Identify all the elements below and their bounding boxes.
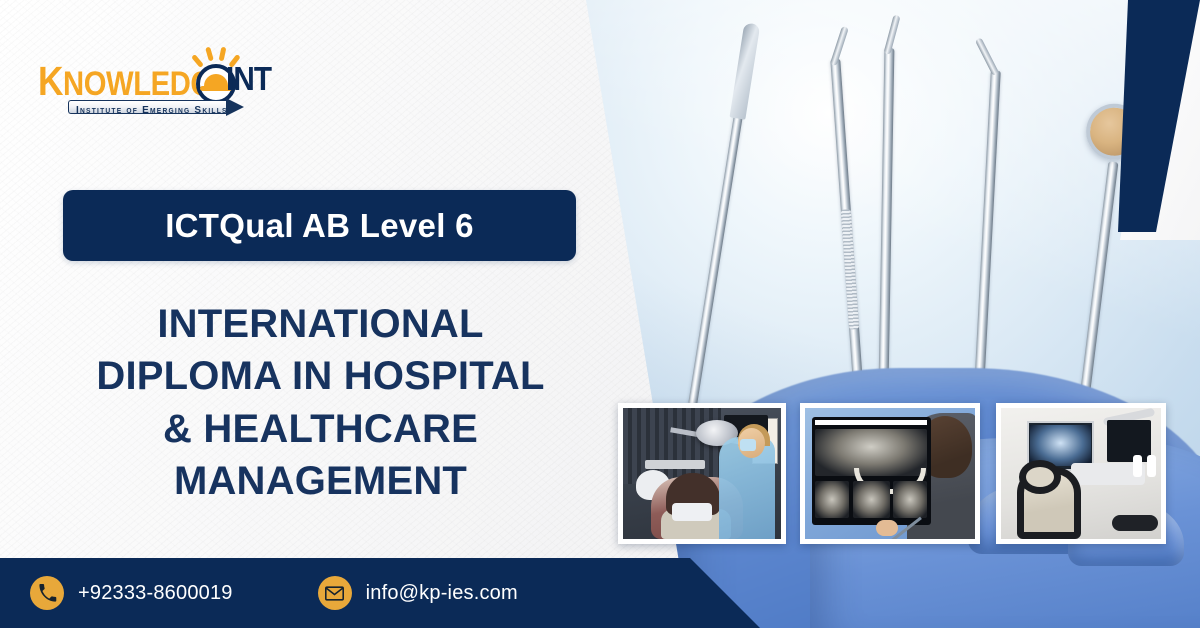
- bulb-ray-1: [191, 54, 204, 68]
- logo-wordmark-suffix: INT: [226, 60, 271, 98]
- thumbnail-dental-operatory[interactable]: [996, 403, 1166, 544]
- page-title-line-2: DIPLOMA IN HOSPITAL: [63, 350, 578, 402]
- bulb-ray-2: [205, 47, 214, 62]
- page-title-line-1: INTERNATIONAL: [63, 298, 578, 350]
- page-title-line-4: MANAGEMENT: [63, 455, 578, 507]
- thumbnail-dental-operatory-image: [1001, 408, 1161, 539]
- pencil-tip: [226, 98, 244, 116]
- thumbnail-dental-treatment[interactable]: [618, 403, 786, 544]
- brand-logo[interactable]: KNOWLEDGE INT Institute of Emerging Skil…: [30, 36, 260, 132]
- qualification-badge[interactable]: ICTQual AB Level 6: [63, 190, 576, 261]
- logo-tagline: Institute of Emerging Skills: [76, 104, 228, 116]
- qualification-badge-label: ICTQual AB Level 6: [165, 207, 474, 245]
- contact-phone[interactable]: +92333-8600019: [30, 576, 233, 610]
- phone-number: +92333-8600019: [78, 582, 233, 605]
- logo-wordmark-initial: K: [38, 58, 63, 104]
- thumbnail-dental-treatment-image: [623, 408, 781, 539]
- poster-canvas: KNOWLEDGE INT Institute of Emerging Skil…: [0, 0, 1200, 628]
- contact-footer-bar: +92333-8600019 info@kp-ies.com: [0, 558, 760, 628]
- thumbnail-xray-review[interactable]: [800, 403, 980, 544]
- phone-icon: [30, 576, 64, 610]
- contact-email[interactable]: info@kp-ies.com: [318, 576, 518, 610]
- thumbnail-xray-review-image: [805, 408, 975, 539]
- page-title-line-3: & HEALTHCARE: [63, 403, 578, 455]
- page-title: INTERNATIONAL DIPLOMA IN HOSPITAL & HEAL…: [63, 298, 578, 508]
- envelope-icon: [318, 576, 352, 610]
- email-address: info@kp-ies.com: [366, 582, 518, 605]
